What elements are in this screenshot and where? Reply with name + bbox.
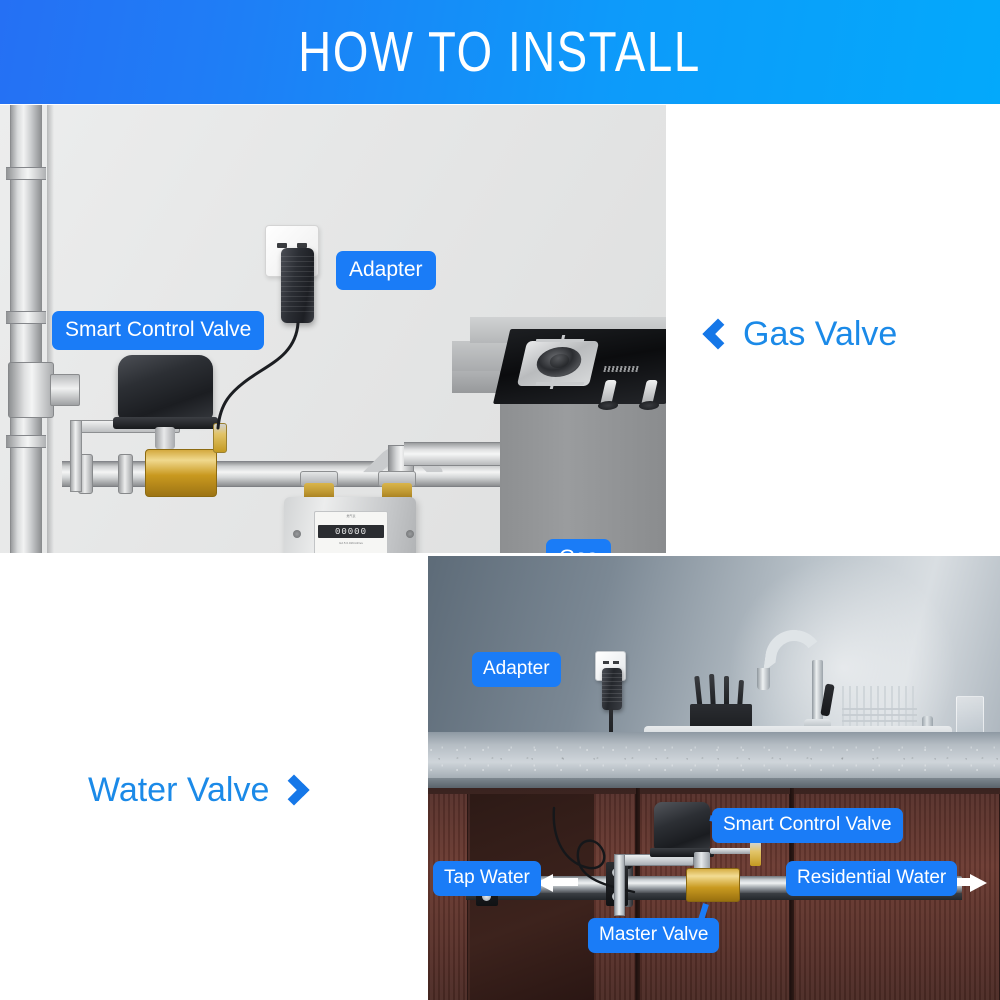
gas-meter-reading: 00000 xyxy=(318,525,384,538)
tap-water-arrow-shaft xyxy=(552,878,578,886)
label-adapter-water[interactable]: Adapter xyxy=(472,652,561,687)
brass-ball-valve: ✕ xyxy=(145,449,217,497)
water-valve-direction-label[interactable]: Water Valve xyxy=(88,773,305,807)
gas-valve-label-text: Gas Valve xyxy=(743,317,897,351)
tee-stub xyxy=(50,374,80,406)
counter-side xyxy=(452,371,500,393)
residential-water-arrow-icon xyxy=(970,874,987,892)
burner-grate-bar xyxy=(536,382,585,385)
tee-fitting xyxy=(8,362,54,418)
page-header-banner: HOW TO INSTALL xyxy=(0,0,1000,104)
valve-bracket-arm xyxy=(70,420,82,492)
water-valve-label-text: Water Valve xyxy=(88,773,269,807)
pipe-clamp xyxy=(118,454,133,494)
power-adapter xyxy=(281,248,314,323)
pipe-collar xyxy=(6,311,46,324)
label-gas[interactable]: Gas xyxy=(546,539,611,553)
pipe-collar xyxy=(6,435,46,448)
meter-label-top: 燃气表 xyxy=(317,514,385,519)
water-installation-panel: Adapter Smart Control Valve Tap Water Re… xyxy=(428,556,1000,1000)
right-chevron-icon xyxy=(279,774,310,805)
pipe-collar xyxy=(6,167,46,180)
smart-control-valve-actuator xyxy=(654,802,710,850)
cooktop-brand-logo xyxy=(603,366,638,372)
label-residential-water[interactable]: Residential Water xyxy=(786,861,957,896)
countertop-texture xyxy=(428,742,1000,780)
meter-label-bottom: G2.5 0.016m3/rev xyxy=(317,541,385,546)
label-smart-control-valve-water[interactable]: Smart Control Valve xyxy=(712,808,903,843)
outlet-slot xyxy=(613,661,619,664)
label-adapter-gas[interactable]: Adapter xyxy=(336,251,436,290)
label-master-valve[interactable]: Master Valve xyxy=(588,918,719,953)
valve-indicator-pin xyxy=(750,842,761,866)
smart-control-valve-actuator xyxy=(118,355,213,420)
outlet-slot xyxy=(603,661,609,664)
gas-valve-direction-label[interactable]: Gas Valve xyxy=(707,317,897,351)
meter-side-knob xyxy=(293,530,301,538)
valve-stem xyxy=(155,427,175,449)
install-instruction-page: HOW TO INSTALL ✕ xyxy=(0,0,1000,1000)
meter-side-knob xyxy=(406,530,414,538)
label-smart-control-valve-gas[interactable]: Smart Control Valve xyxy=(52,311,264,350)
horizontal-gas-pipe xyxy=(62,461,392,487)
power-adapter xyxy=(602,668,622,710)
gas-installation-panel: ✕ xyxy=(0,105,666,553)
left-chevron-icon xyxy=(702,318,733,349)
valve-bracket-arm xyxy=(614,854,625,916)
adapter-ridges xyxy=(602,673,622,705)
countertop-edge xyxy=(428,778,1000,788)
faucet-spout xyxy=(757,668,770,690)
adapter-ridges xyxy=(281,256,314,314)
brass-master-valve xyxy=(686,868,740,902)
label-tap-water[interactable]: Tap Water xyxy=(433,861,541,896)
page-title: HOW TO INSTALL xyxy=(299,24,701,81)
cabinet-door[interactable] xyxy=(428,794,468,1000)
